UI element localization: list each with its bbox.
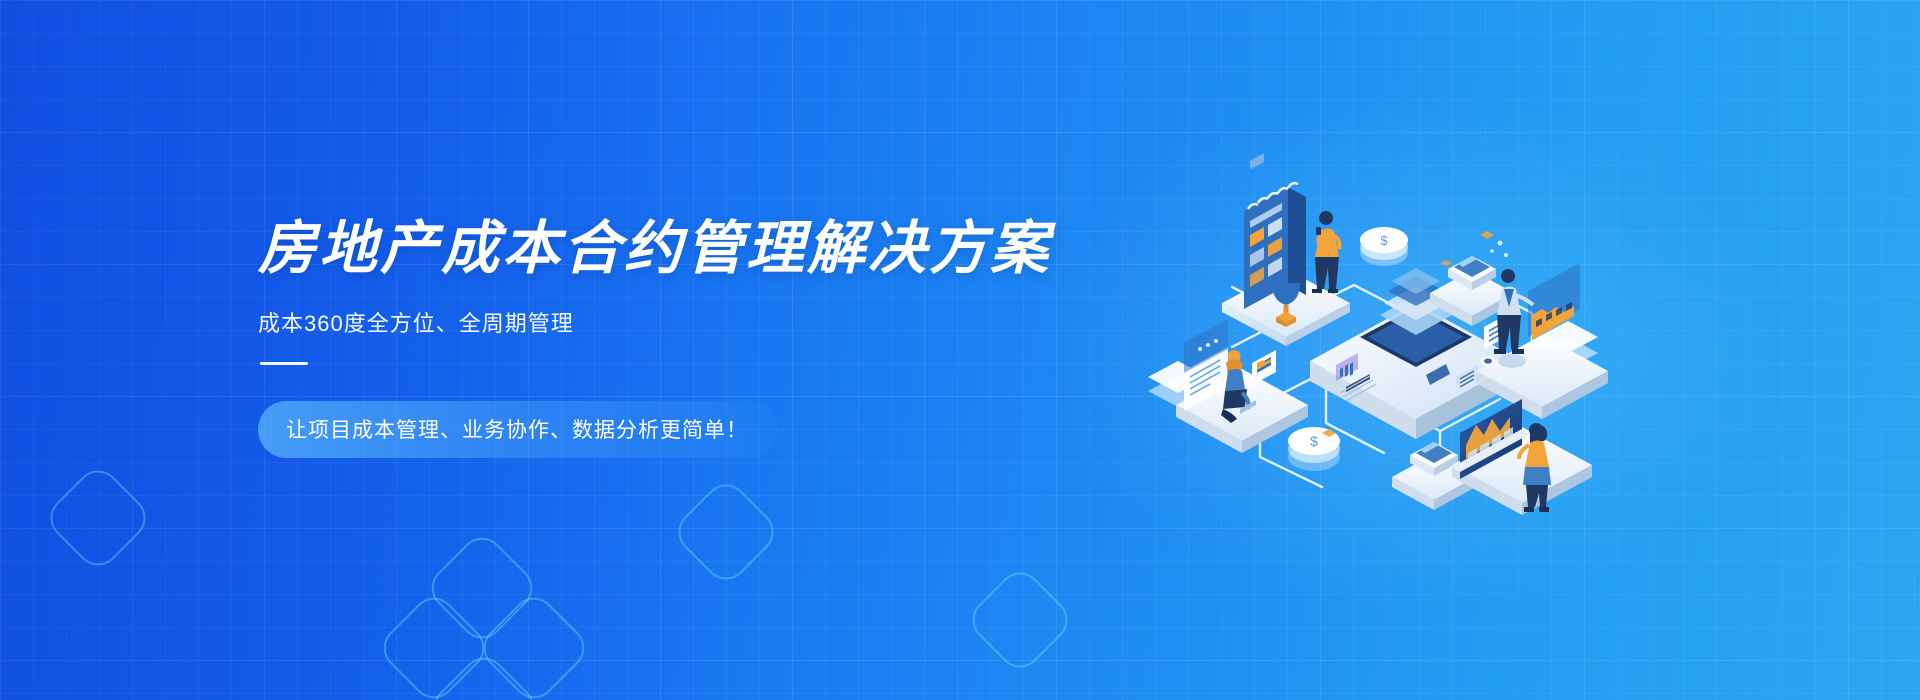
hero-copy: 房地产成本合约管理解决方案 成本360度全方位、全周期管理 让项目成本管理、业务… (258, 218, 1158, 458)
page-title: 房地产成本合约管理解决方案 (258, 218, 1158, 281)
diamond-icon (963, 563, 1076, 676)
diamond-icon (425, 649, 544, 700)
person-standing-phone (1312, 211, 1339, 293)
svg-text:$: $ (1310, 433, 1318, 449)
title-divider (260, 362, 308, 365)
hero-banner: 房地产成本合约管理解决方案 成本360度全方位、全周期管理 让项目成本管理、业务… (0, 0, 1920, 700)
diamond-icon (475, 589, 594, 700)
diamond-icon (669, 475, 782, 588)
svg-text:$: $ (1380, 233, 1388, 248)
decorative-diamonds-left (0, 430, 640, 700)
page-subtitle: 成本360度全方位、全周期管理 (258, 307, 1158, 340)
diamond-icon (423, 529, 542, 648)
laptop-dashboard-platform (1452, 399, 1592, 515)
coin-stack-top: $ (1360, 227, 1408, 266)
hero-illustration: $ (1140, 165, 1640, 515)
tagline-pill: 让项目成本管理、业务协作、数据分析更简单！ (258, 401, 778, 458)
diamond-icon (375, 589, 494, 700)
diamond-icon (41, 461, 154, 574)
